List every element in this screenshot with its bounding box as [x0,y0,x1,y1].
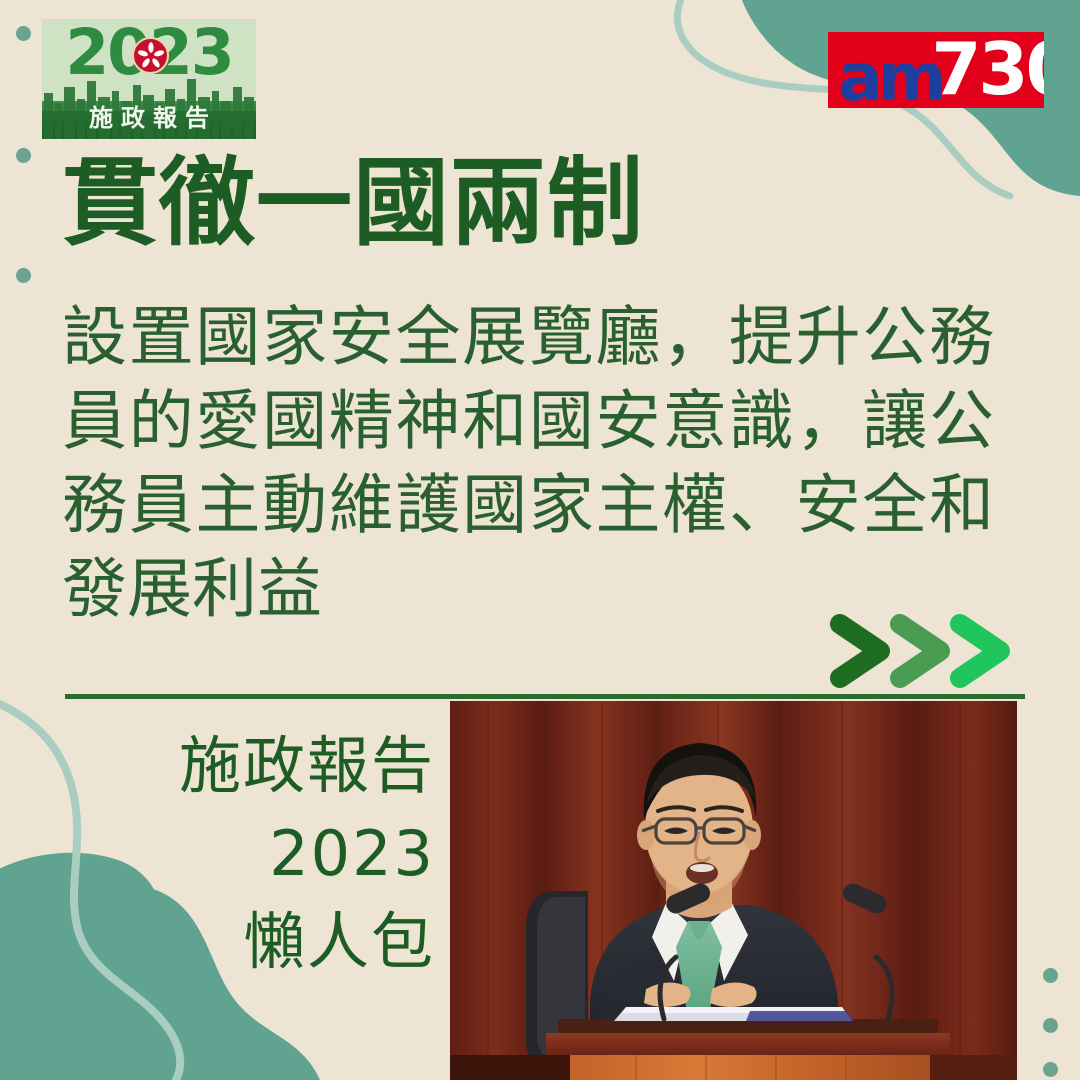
caption-line-3: 懶人包 [60,898,435,986]
triple-chevron-right-icon [828,612,1048,690]
caption-line-2: 2023 [60,810,435,898]
am730-number: 730 [931,36,1044,102]
caption-line-1: 施政報告 [60,722,435,810]
am730-prefix: am [838,48,941,108]
decor-dot [1043,968,1058,983]
hong-kong-bauhinia-emblem-icon [132,37,169,74]
decor-dot [1043,1018,1058,1033]
series-caption: 施政報告 2023 懶人包 [60,722,435,986]
section-divider [65,694,1025,699]
am730-logo: am 730 [828,32,1044,108]
logo-subtitle: 施政報告 [42,98,256,133]
decor-dot [16,26,31,41]
page-title: 貫徹一國兩制 [62,152,1022,254]
photo-chief-executive-at-podium [450,701,1017,1080]
infographic-card: 2023 施政報告 am 730 貫徹一國兩制 設置國家安全展覽廳，提升公務員的… [0,0,1080,1080]
body-paragraph: 設置國家安全展覽廳，提升公務員的愛國精神和國安意識，讓公務員主動維護國家主權、安… [62,296,994,632]
decor-dot [16,268,31,283]
decor-dot [16,148,31,163]
policy-address-2023-logo: 2023 施政報告 [42,19,256,139]
decor-dot [1043,1062,1058,1077]
